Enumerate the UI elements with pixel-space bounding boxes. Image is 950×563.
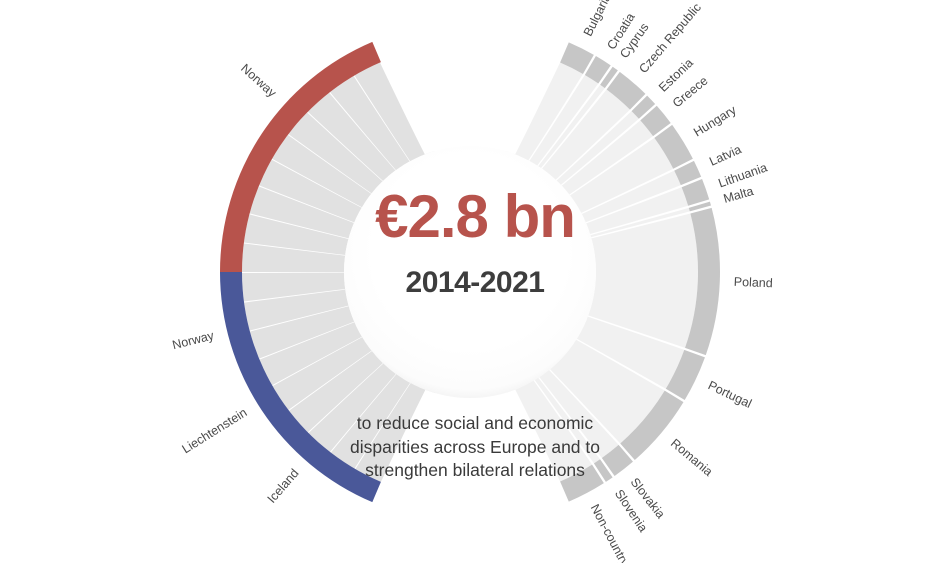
donor-label-2: Norway: [171, 328, 216, 352]
donor-label-1: Liechtenstein: [180, 405, 250, 456]
beneficiary-label-7: Latvia: [707, 142, 743, 169]
donor-label-0: Iceland: [265, 466, 302, 506]
beneficiary-label-15: Non-country specific: [588, 502, 653, 563]
beneficiary-label-10: Poland: [734, 275, 773, 291]
beneficiary-label-0: Bulgaria: [581, 0, 614, 39]
beneficiary-label-12: Romania: [668, 436, 715, 479]
donor-label-3: Norway: [238, 61, 279, 100]
caption-line-2: disparities across Europe and to: [320, 436, 630, 460]
caption-block: to reduce social and economic disparitie…: [320, 412, 630, 483]
beneficiary-label-6: Hungary: [691, 102, 739, 139]
caption-line-1: to reduce social and economic: [320, 412, 630, 436]
center-hub: [344, 146, 596, 398]
caption-line-3: strengthen bilateral relations: [320, 459, 630, 483]
beneficiary-label-11: Portugal: [706, 378, 754, 411]
